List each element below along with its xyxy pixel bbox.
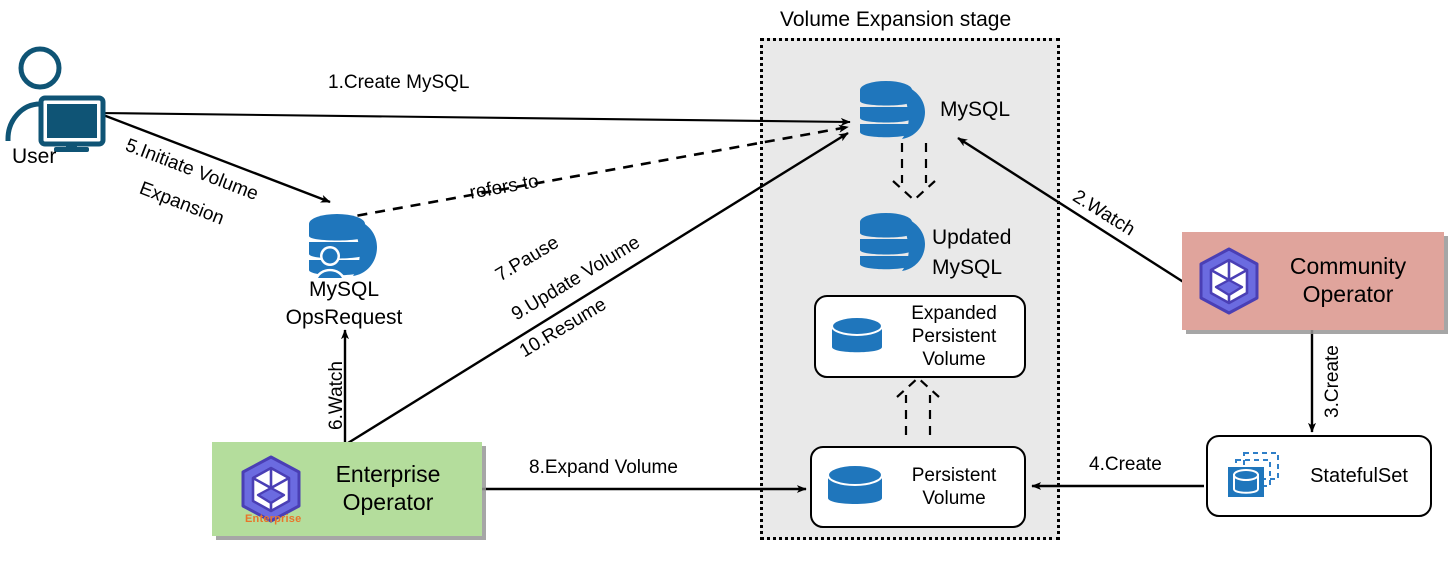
edge-label-watch-opsrequest: 6.Watch [326,361,348,430]
mysql-node[interactable] [855,80,931,142]
community-operator-line2: Operator [1262,281,1434,309]
updated-mysql-label-line2: MySQL [932,256,1002,281]
expanded-persistent-volume-node[interactable]: Expanded Persistent Volume [814,295,1026,378]
enterprise-operator-line1: Enterprise [304,461,472,489]
edge-label-create-statefulset: 3.Create [1322,345,1344,418]
mysql-opsrequest-label-line2: OpsRequest [284,306,404,331]
mysql-opsrequest-icon [303,212,385,282]
expanded-pv-line2: Persistent [890,325,1018,348]
persistent-volume-label: Persistent Volume [890,464,1024,510]
expanded-pv-line1: Expanded [890,302,1018,325]
edge-create-mysql [98,113,850,122]
edge-mysql-updated-dashed [893,143,935,200]
edge-refers-to [322,127,848,222]
mysql-database-icon [855,212,931,274]
edge-label-expand-volume: 8.Expand Volume [526,457,681,479]
operator-cube-icon [1196,246,1262,316]
updated-mysql-label-line1: Updated [932,226,1011,251]
statefulset-node[interactable]: StatefulSet [1206,435,1432,517]
statefulset-label: StatefulSet [1294,464,1430,488]
mysql-opsrequest-label-line1: MySQL [284,278,404,303]
enterprise-tag: Enterprise [245,513,301,525]
diagram-canvas: Volume Expansion stage [0,0,1448,564]
edge-label-create-mysql: 1.Create MySQL [328,72,470,94]
mysql-opsrequest-node[interactable] [303,212,385,282]
edge-label-create-pv: 4.Create [1086,454,1165,476]
user-node[interactable] [2,44,106,152]
persistent-volume-icon [824,461,890,513]
mysql-database-icon [855,80,931,142]
mysql-label: MySQL [940,98,1010,123]
user-computer-icon [2,44,106,152]
enterprise-operator-label: Enterprise Operator [304,461,482,516]
edge-pause-update-resume [348,133,848,443]
expanded-pv-label: Expanded Persistent Volume [890,302,1024,372]
community-operator-node[interactable]: Community Operator [1182,232,1444,330]
community-operator-line1: Community [1262,253,1434,281]
pv-line2: Volume [890,487,1018,510]
persistent-volume-node[interactable]: Persistent Volume [810,446,1026,528]
persistent-volume-icon [828,313,890,361]
community-operator-label: Community Operator [1262,253,1444,308]
edge-pv-expanded-dashed [897,378,939,435]
pv-line1: Persistent [890,464,1018,487]
statefulset-icon [1222,447,1294,505]
user-label: User [12,145,56,170]
updated-mysql-node[interactable] [855,212,931,274]
enterprise-operator-line2: Operator [304,489,472,517]
expanded-pv-line3: Volume [890,348,1018,371]
